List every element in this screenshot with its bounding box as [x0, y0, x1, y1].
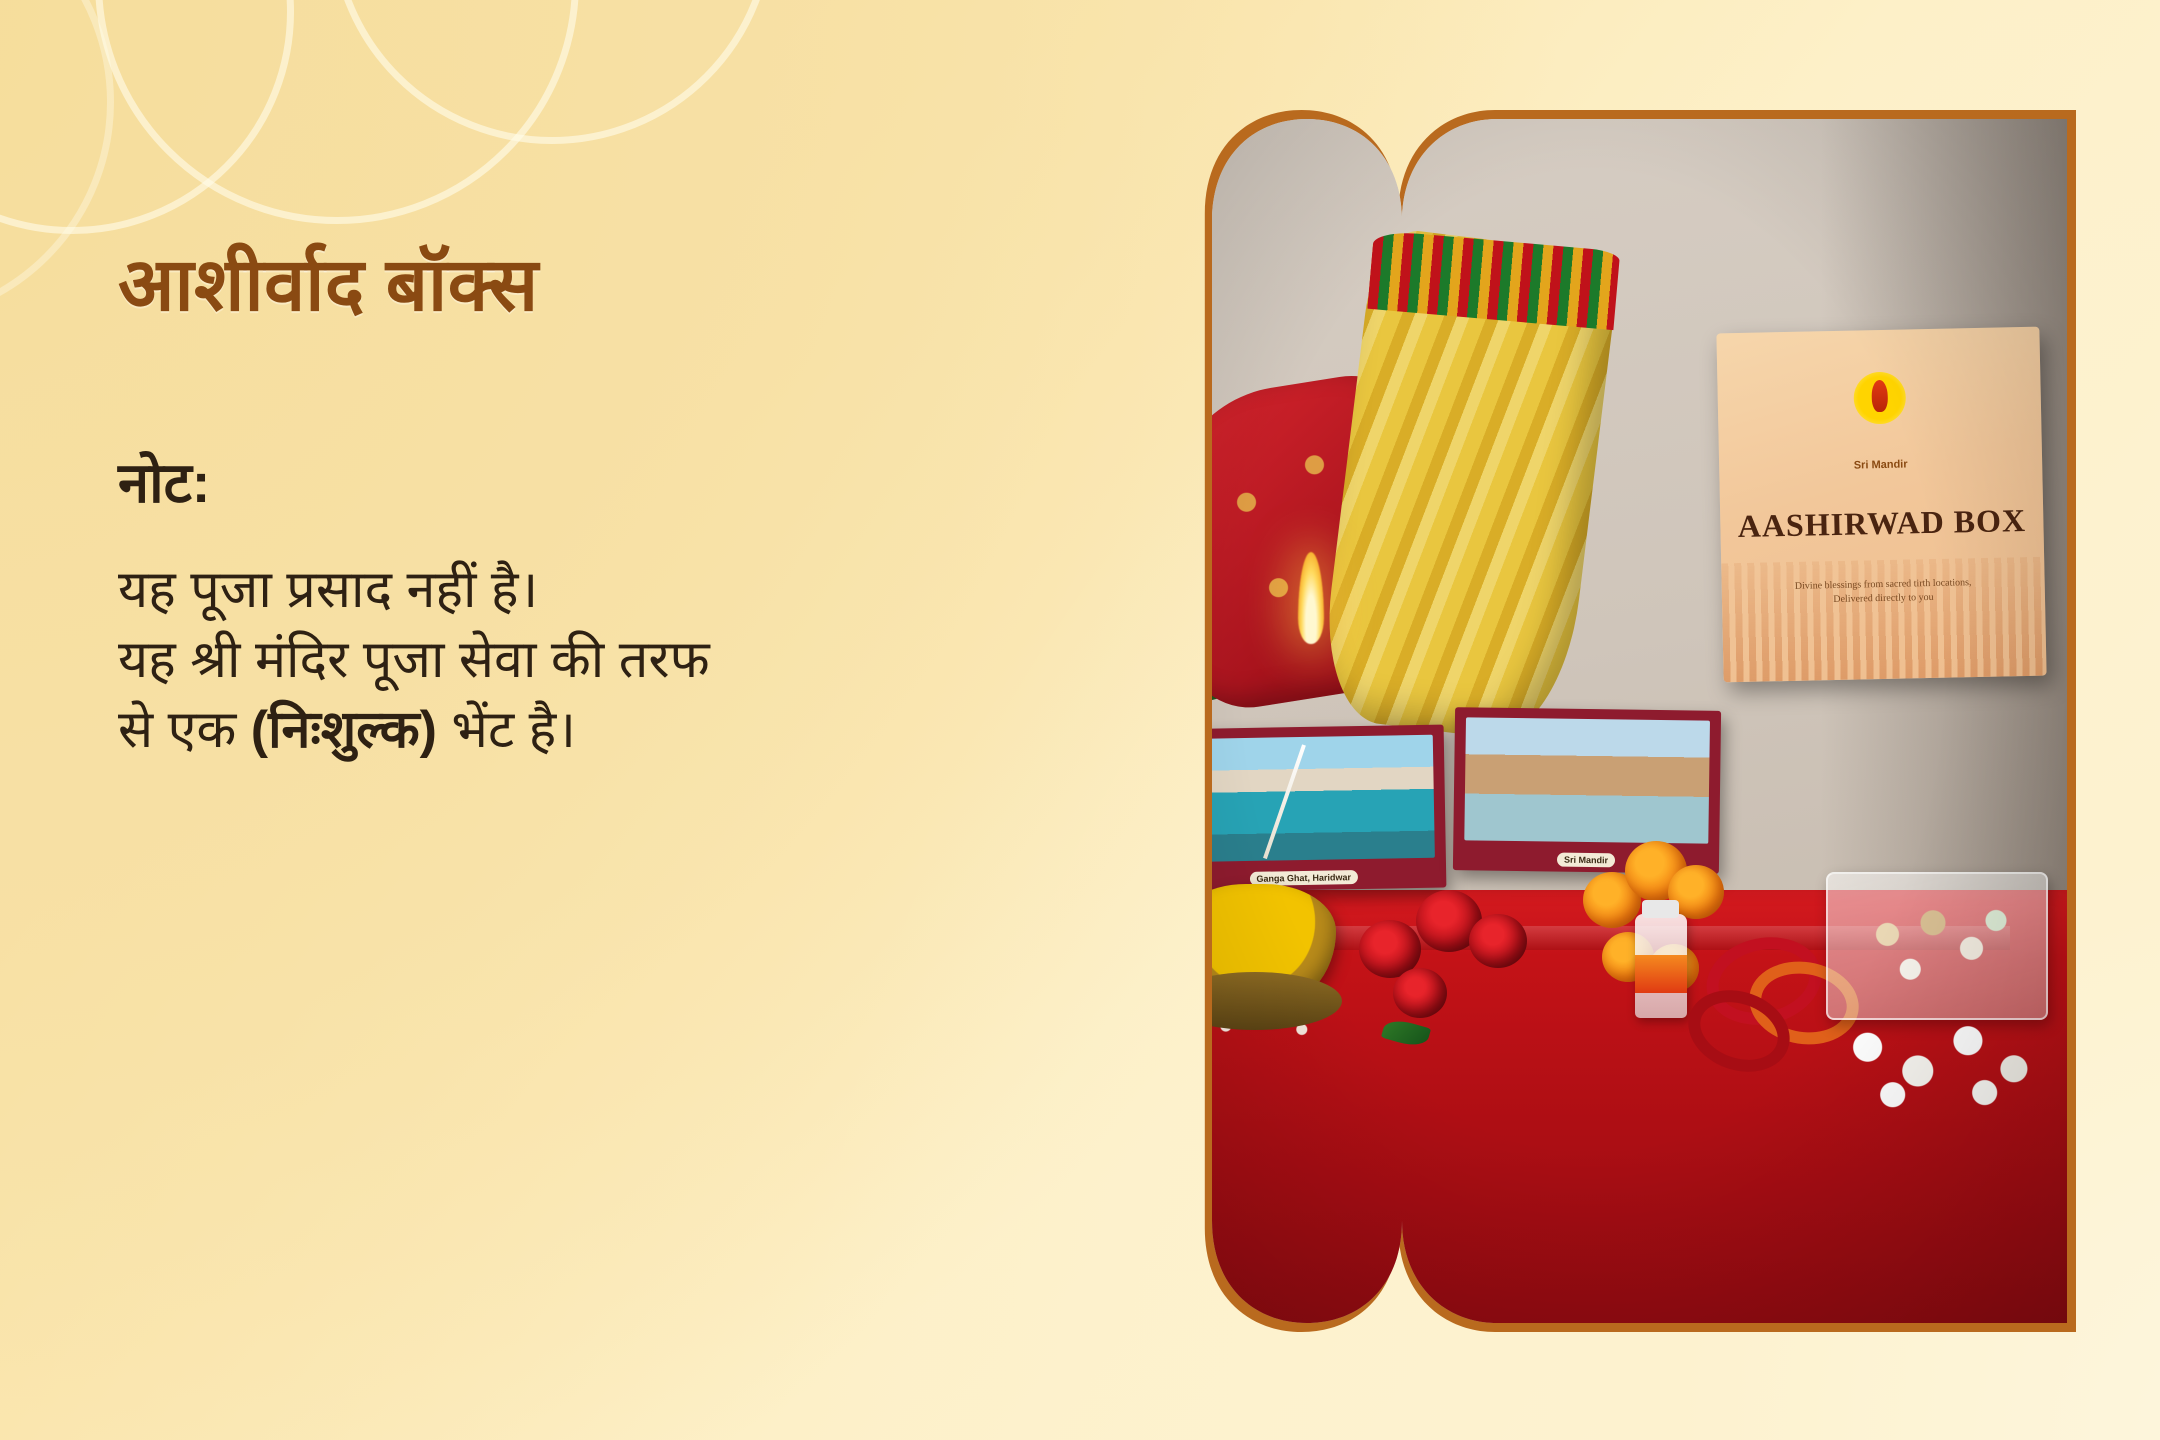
gangajal-bottle	[1635, 914, 1687, 1018]
note-line-2: यह श्री मंदिर पूजा सेवा की तरफ	[118, 625, 1018, 695]
note-label: नोट:	[118, 455, 210, 511]
bottle-label	[1635, 955, 1687, 992]
photo-clip: Sri Mandir AASHIRWAD BOX Divine blessing…	[1117, 119, 2067, 1323]
red-rose	[1469, 914, 1527, 968]
temple-skyline-graphic	[1721, 557, 2046, 682]
product-box-title: AASHIRWAD BOX	[1738, 501, 2027, 544]
product-box-tagline: Divine blessings from sacred tirth locat…	[1795, 576, 1972, 608]
sweets-container	[1826, 872, 2049, 1020]
brass-diya-bowl	[1174, 884, 1336, 1010]
red-rose	[1393, 968, 1447, 1018]
decorative-circle-icon	[0, 0, 114, 324]
batasha-sugar-candies	[1830, 1004, 2039, 1112]
varanasi-ghat-image	[1464, 717, 1710, 844]
product-photo: Sri Mandir AASHIRWAD BOX Divine blessing…	[1108, 110, 2076, 1332]
note-line-3-suffix: भेंट है।	[437, 701, 576, 759]
diya-rim	[1168, 972, 1342, 1030]
note-free-emphasis: (निःशुल्क)	[251, 701, 437, 759]
promo-banner: आशीर्वाद बॉक्स नोट: यह पूजा प्रसाद नहीं …	[0, 0, 2160, 1440]
note-line-1: यह पूजा प्रसाद नहीं है।	[118, 555, 1018, 625]
tagline-line-1: Divine blessings from sacred tirth locat…	[1795, 577, 1972, 592]
note-line-3-prefix: से एक	[118, 701, 251, 759]
text-column: आशीर्वाद बॉक्स नोट: यह पूजा प्रसाद नहीं …	[118, 0, 998, 1440]
photo-scene: Sri Mandir AASHIRWAD BOX Divine blessing…	[1117, 119, 2067, 1323]
page-title: आशीर्वाद बॉक्स	[118, 248, 539, 322]
note-body: यह पूजा प्रसाद नहीं है। यह श्री मंदिर पू…	[118, 555, 1018, 766]
bottle-cap	[1642, 900, 1679, 918]
photo-card-caption: Sri Mandir	[1557, 853, 1615, 868]
note-line-3: से एक (निःशुल्क) भेंट है।	[118, 695, 1018, 765]
photo-card-varanasi: Sri Mandir	[1453, 707, 1721, 873]
sri-mandir-logo-icon	[1853, 371, 1906, 424]
aashirwad-product-box: Sri Mandir AASHIRWAD BOX Divine blessing…	[1717, 326, 2047, 682]
sri-mandir-logo-text: Sri Mandir	[1854, 458, 1908, 471]
tagline-line-2: Delivered directly to you	[1833, 592, 1933, 605]
